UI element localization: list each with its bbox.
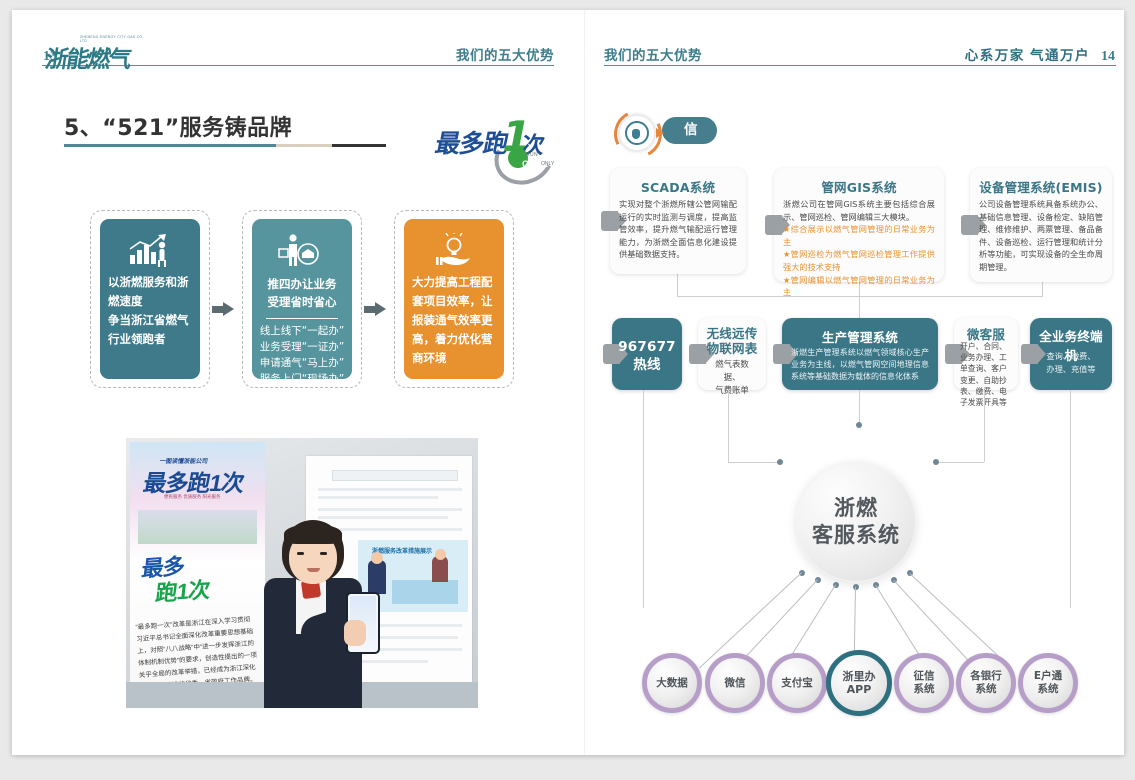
banner-title: 最多跑1次	[141, 464, 247, 498]
card-arrow-tab-icon	[601, 211, 618, 231]
endpoint-credit-system-label: 征信 系统	[914, 670, 935, 696]
section-title: 5、“521”服务铸品牌	[64, 110, 292, 142]
connector-line-iot-h	[728, 462, 780, 463]
card-arrow-tab-icon	[765, 215, 782, 235]
step-card-3-heading: 大力提高工程配 套项目效率，让 报装通气效率更 高，着力优化营 商环境	[412, 273, 498, 368]
hub-line-1: 浙燃	[834, 495, 878, 522]
service-counter-icon	[252, 233, 352, 269]
card-hotline-title: 967677 热线	[617, 338, 677, 374]
endpoint-bigdata[interactable]: 大数据	[642, 653, 702, 713]
connector-line-hotline	[643, 390, 644, 608]
banner-subtitle: 便民服务 优质服务 阳光服务	[164, 494, 221, 500]
endpoint-alipay[interactable]: 支付宝	[767, 653, 827, 713]
lightbulb-hand-icon	[404, 233, 504, 269]
card-iot-meter[interactable]: 无线远传 物联网表 燃气表数据、 气费账单	[698, 318, 766, 390]
card-gis-body: 浙燃公司在管网GIS系统主要包括综合展示、管网巡检、管网编辑三大模块。 ★综合展…	[783, 198, 935, 299]
banner-skyline-illustration	[138, 510, 257, 544]
step-card-2[interactable]: 推四办让业务 受理省时省心 线上线下“一起办” 业务受理“一证办” 申请通气“马…	[242, 210, 362, 388]
page-spread: 13 我们的五大优势 浙能燃气 ZHENENG ENERGY CITY GAS …	[12, 10, 1124, 755]
step-card-2-heading: 推四办让业务 受理省时省心	[258, 275, 346, 311]
right-header-title-left: 我们的五大优势	[604, 44, 702, 64]
service-photo: 一图读懂浙能公司 最多跑1次 便民服务 优质服务 阳光服务 最多 跑1次 “最多…	[126, 438, 478, 708]
connector-line-wechat	[984, 390, 985, 462]
illustration-person-1-head	[371, 552, 383, 564]
person-eye-right	[320, 552, 327, 555]
person-mouth	[307, 568, 320, 572]
endpoint-ehutong-label: E户通 系统	[1034, 670, 1062, 696]
card-production-mgmt[interactable]: 生产管理系统 浙燃生产管理系统以燃气领域核心生产业务为主线，以燃气管网空间地理信…	[782, 318, 938, 390]
right-header-title-right: 心系万家 气通万户	[965, 44, 1090, 64]
connector-line	[859, 296, 860, 318]
photo-rollup-banner: 一图读懂浙能公司 最多跑1次 便民服务 优质服务 阳光服务 最多 跑1次 “最多…	[130, 442, 265, 704]
step-card-2-body: 线上线下“一起办” 业务受理“一证办” 申请通气“马上办” 服务上门“现场办”	[257, 323, 347, 379]
card-iot-meter-title: 无线远传 物联网表	[703, 326, 761, 356]
board-line	[318, 496, 438, 499]
endpoint-credit-system[interactable]: 征信 系统	[894, 653, 954, 713]
card-production-mgmt-title: 生产管理系统	[787, 327, 933, 346]
step-card-3-inner: 大力提高工程配 套项目效率，让 报装通气效率更 高，着力优化营 商环境	[404, 219, 504, 379]
logo-text-en: ZHENENG ENERGY CITY GAS CO. LTD	[80, 35, 150, 43]
card-emis[interactable]: 设备管理系统(EMIS) 公司设备管理系统具备系统办公、基础信息管理、设备检定、…	[970, 168, 1112, 282]
document-page: 13 我们的五大优势 浙能燃气 ZHENENG ENERGY CITY GAS …	[12, 10, 1124, 755]
board-title-box	[332, 470, 458, 481]
card-production-mgmt-body: 浙燃生产管理系统以燃气领域核心生产业务为主线，以燃气管网空间地理信息系统等基础数…	[791, 347, 929, 383]
spoke-line	[854, 587, 856, 657]
step-card-1-heading: 以浙燃服务和浙 燃速度 争当浙江省燃气 行业领跑者	[108, 273, 194, 349]
card-gis-bullet: ★综合展示以燃气管网管理的日常业务为主	[783, 223, 935, 248]
connector-line-production	[859, 390, 860, 424]
hub-customer-service-system: 浙燃 客服系统	[796, 462, 916, 582]
step-card-2-inner: 推四办让业务 受理省时省心 线上线下“一起办” 业务受理“一证办” 申请通气“马…	[252, 219, 352, 379]
endpoint-bigdata-label: 大数据	[656, 677, 688, 690]
person-hand	[344, 620, 366, 646]
illustration-desk	[392, 580, 458, 604]
person-eye-left	[297, 552, 304, 555]
endpoint-wechat-label: 微信	[725, 677, 746, 690]
card-iot-meter-body: 燃气表数据、 气费账单	[707, 358, 757, 397]
card-scada-body: 实现对整个浙燃所辖公管网输配运行的实时监测与调度，提高监管效率，提升燃气输配运行…	[619, 198, 737, 261]
endpoint-alipay-label: 支付宝	[781, 677, 813, 690]
connector-node	[933, 459, 939, 465]
card-gis-bullet: ★管网编辑以燃气管网管理的日常业务为主	[783, 274, 935, 299]
card-gis[interactable]: 管网GIS系统 浙燃公司在管网GIS系统主要包括综合展示、管网巡检、管网编辑三大…	[774, 168, 944, 282]
card-wechat-service-body: 开户、合同、业务办理、工单查询、客户变更、自助抄表、缴费、电子发票开具等	[960, 341, 1012, 408]
flow-arrow-2	[364, 302, 386, 316]
endpoint-zhelib-app[interactable]: 浙里办 APP	[826, 650, 892, 716]
right-page-header: 我们的五大优势 心系万家 气通万户 14	[604, 40, 1116, 66]
banner-big-text-2: 跑1次	[154, 572, 211, 608]
growth-chart-person-icon	[100, 233, 200, 269]
section-underline-beige	[276, 144, 332, 147]
step-card-2-divider	[266, 318, 338, 319]
connector-line-wechat-h	[937, 462, 984, 463]
connector-line-terminal	[1070, 390, 1071, 608]
badge-en-top: RUN	[526, 152, 538, 158]
card-wechat-service[interactable]: 微客服 开户、合同、业务办理、工单查询、客户变更、自助抄表、缴费、电子发票开具等	[954, 318, 1018, 390]
board-line	[318, 488, 462, 491]
connector-line-iot	[728, 390, 729, 462]
page-gutter	[584, 10, 585, 755]
card-arrow-tab-icon	[961, 215, 978, 235]
connector-line	[677, 274, 678, 296]
logo-text-cn: 浙能燃气	[43, 40, 132, 74]
step-card-1[interactable]: 以浙燃服务和浙 燃速度 争当浙江省燃气 行业领跑者	[90, 210, 210, 388]
endpoint-banks[interactable]: 各银行 系统	[956, 653, 1016, 713]
spoke-node	[853, 584, 859, 590]
badge-en-sub: ONLY	[541, 161, 554, 167]
card-gis-title: 管网GIS系统	[779, 177, 939, 196]
card-hotline[interactable]: 967677 热线	[612, 318, 682, 390]
right-header-rule	[604, 65, 1116, 66]
touch-hand-glyph	[625, 121, 649, 145]
banner-label: 信息化提升服务能力	[662, 117, 717, 144]
endpoint-zhelib-app-label: 浙里办 APP	[843, 670, 876, 696]
flow-arrow-1	[212, 302, 234, 316]
endpoint-banks-label: 各银行 系统	[970, 670, 1002, 696]
card-scada[interactable]: SCADA系统 实现对整个浙燃所辖公管网输配运行的实时监测与调度，提高监管效率，…	[610, 168, 746, 274]
board-line	[318, 508, 462, 511]
section-underline-dark	[332, 144, 386, 147]
card-terminal-body: 查询、缴费、 办理、充值等	[1039, 350, 1103, 375]
connector-node	[856, 422, 862, 428]
card-terminal[interactable]: 全业务终端机 查询、缴费、 办理、充值等	[1030, 318, 1112, 390]
run-once-badge: 最多跑 1 次 RUN ONCE ONLY	[436, 114, 560, 176]
left-header-title: 我们的五大优势	[456, 44, 554, 64]
board-line	[318, 516, 448, 519]
endpoint-ehutong[interactable]: E户通 系统	[1018, 653, 1078, 713]
staff-person	[258, 520, 368, 708]
endpoint-wechat[interactable]: 微信	[705, 653, 765, 713]
illustration-person-2-head	[435, 549, 446, 560]
card-scada-title: SCADA系统	[615, 177, 741, 196]
card-arrow-tab-icon	[773, 344, 790, 364]
banner-arrow-icon	[656, 128, 664, 138]
card-gis-intro: 浙燃公司在管网GIS系统主要包括综合展示、管网巡检、管网编辑三大模块。	[783, 198, 935, 223]
card-emis-body: 公司设备管理系统具备系统办公、基础信息管理、设备检定、缺陷管理、维修维护、两票管…	[979, 198, 1103, 274]
connector-node	[777, 459, 783, 465]
section-underline-teal	[64, 144, 276, 147]
card-gis-bullet: ★管网巡检为燃气管网巡检管理工作提供强大的技术支持	[783, 248, 935, 273]
step-card-3[interactable]: 大力提高工程配 套项目效率，让 报装通气效率更 高，着力优化营 商环境	[394, 210, 514, 388]
step-card-1-inner: 以浙燃服务和浙 燃速度 争当浙江省燃气 行业领跑者	[100, 219, 200, 379]
hub-line-2: 客服系统	[812, 522, 900, 549]
touch-hand-circle-icon	[618, 114, 656, 152]
right-page-number: 14	[1101, 49, 1115, 65]
illustration-person-1	[368, 560, 386, 594]
person-fringe	[284, 524, 342, 544]
company-logo: 浙能燃气 ZHENENG ENERGY CITY GAS CO. LTD	[46, 38, 164, 68]
card-emis-title: 设备管理系统(EMIS)	[975, 177, 1107, 196]
